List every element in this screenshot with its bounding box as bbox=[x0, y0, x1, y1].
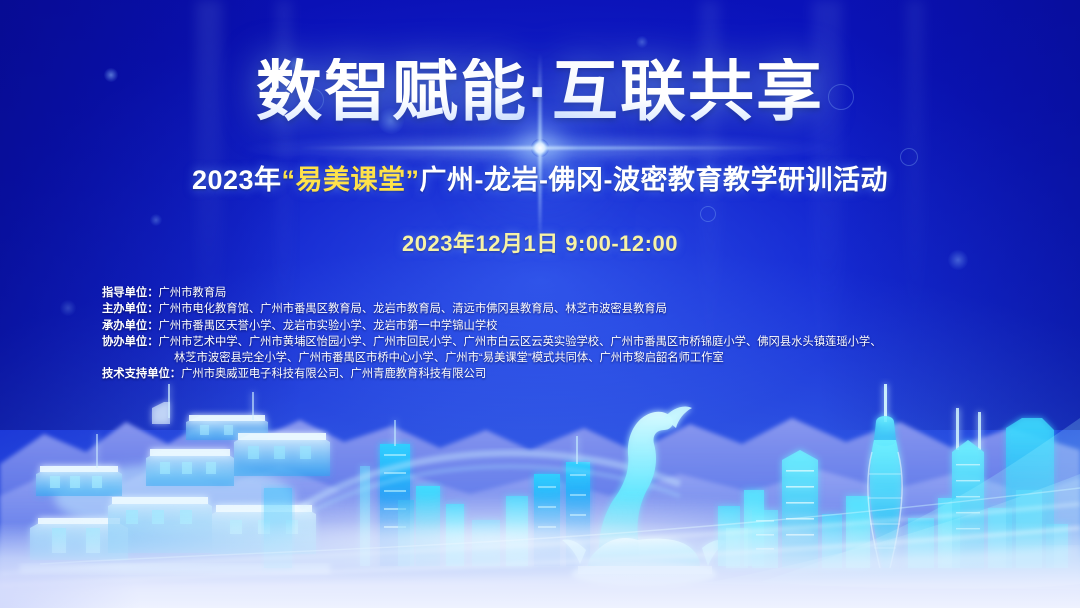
credit-row: 承办单位： 广州市番禺区天誉小学、龙岩市实验小学、龙岩市第一中学锦山学校 bbox=[102, 318, 1002, 334]
credit-value: 林芝市波密县完全小学、广州市番禺区市桥中心小学、广州市“易美课堂”模式共同体、广… bbox=[174, 350, 1002, 366]
subtitle-highlight: “易美课堂” bbox=[282, 165, 420, 195]
credit-label: 承办单位： bbox=[102, 318, 159, 334]
left-edge-tower bbox=[264, 488, 292, 568]
subtitle-suffix: 广州-龙岩-佛冈-波密教育教学研训活动 bbox=[420, 165, 888, 195]
credit-value: 广州市番禺区天誉小学、龙岩市实验小学、龙岩市第一中学锦山学校 bbox=[159, 318, 1003, 334]
credits-block: 指导单位： 广州市教育局 主办单位： 广州市电化教育馆、广州市番禺区教育局、龙岩… bbox=[102, 285, 1002, 383]
credit-label: 指导单位： bbox=[102, 285, 159, 301]
event-datetime: 2023年12月1日 9:00-12:00 bbox=[0, 226, 1080, 258]
cityscape-illustration bbox=[0, 378, 1080, 608]
credit-row: 指导单位： 广州市教育局 bbox=[102, 285, 1002, 301]
poster-stage: 数智赋能·互联共享 2023年“易美课堂”广州-龙岩-佛冈-波密教育教学研训活动… bbox=[0, 0, 1080, 608]
credit-label: 主办单位： bbox=[102, 301, 159, 317]
credit-value: 广州市艺术中学、广州市黄埔区怡园小学、广州市回民小学、广州市白云区云英实验学校、… bbox=[159, 334, 1003, 350]
subtitle: 2023年“易美课堂”广州-龙岩-佛冈-波密教育教学研训活动 bbox=[0, 164, 1080, 196]
credit-value: 广州市电化教育馆、广州市番禺区教育局、龙岩市教育局、清远市佛冈县教育局、林芝市波… bbox=[159, 301, 1003, 317]
credit-label: 协办单位： bbox=[102, 334, 159, 350]
credit-value: 广州市教育局 bbox=[159, 285, 1003, 301]
credit-row: 主办单位： 广州市电化教育馆、广州市番禺区教育局、龙岩市教育局、清远市佛冈县教育… bbox=[102, 301, 1002, 317]
subtitle-prefix: 2023年 bbox=[192, 165, 282, 195]
star-flare-core bbox=[531, 139, 549, 157]
credit-row: 协办单位： 广州市艺术中学、广州市黄埔区怡园小学、广州市回民小学、广州市白云区云… bbox=[102, 334, 1002, 350]
credit-row-continuation: 林芝市波密县完全小学、广州市番禺区市桥中心小学、广州市“易美课堂”模式共同体、广… bbox=[102, 350, 1002, 366]
